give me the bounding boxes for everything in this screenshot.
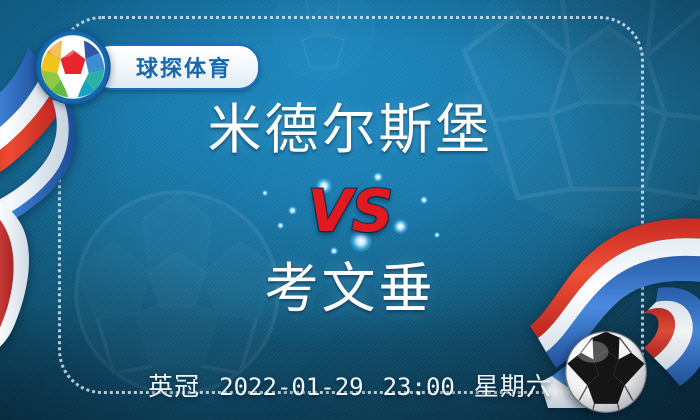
versus-label: VS — [308, 180, 393, 242]
away-team-name: 考文垂 — [0, 262, 700, 316]
match-info-bar: 英冠 2022-01-29 23:00 星期六 — [0, 367, 700, 403]
home-team-name: 米德尔斯堡 — [0, 103, 700, 157]
match-time: 23:00 — [383, 373, 455, 401]
brand-badge[interactable]: 球探体育 — [34, 28, 260, 106]
brand-pill[interactable]: 球探体育 — [90, 44, 260, 90]
soccer-ball-logo-icon — [34, 28, 112, 106]
match-preview-poster: 球探体育 米德尔斯堡 VS 考文垂 英冠 2022-01-29 23:00 星期… — [0, 0, 700, 420]
match-weekday: 星期六 — [474, 372, 552, 401]
versus-block: VS — [0, 180, 700, 246]
league-name: 英冠 — [148, 372, 200, 401]
brand-name: 球探体育 — [136, 51, 232, 83]
match-date: 2022-01-29 — [219, 373, 364, 401]
